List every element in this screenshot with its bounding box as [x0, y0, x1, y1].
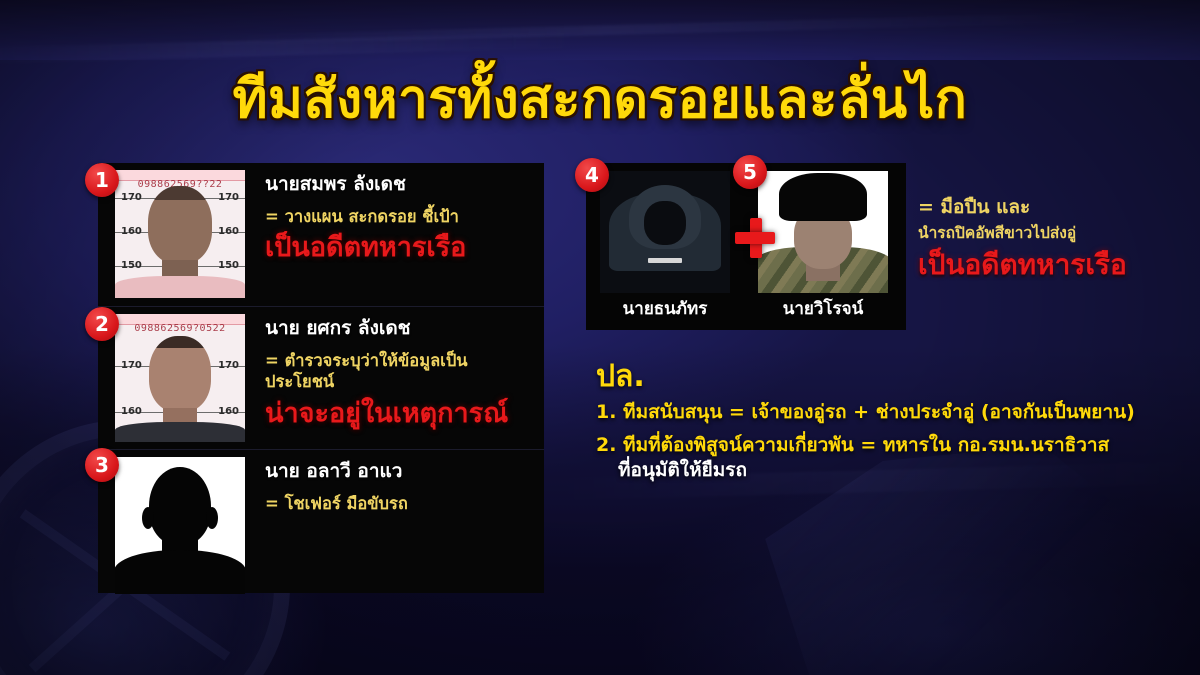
- suspects-panel-left: 098862569??22 170 170 160 160 150 150 นา…: [98, 163, 544, 593]
- mugshot-tick-left-160: 160: [121, 406, 142, 417]
- notes-section: ปล. 1. ทีมสนับสนุน = เจ้าของอู่รถ + ช่าง…: [596, 362, 1171, 483]
- suspect-row-1[interactable]: 098862569??22 170 170 160 160 150 150 นา…: [98, 163, 544, 305]
- notes-heading: ปล.: [596, 362, 1171, 392]
- right-description-line2: นำรถปิคอัพสีขาวไปส่งอู่: [918, 223, 1190, 243]
- masked-face: [644, 201, 686, 245]
- face-shape: [149, 336, 211, 412]
- right-emphasis: เป็นอดีตทหารเรือ: [918, 249, 1190, 280]
- note-item-2-text: 2. ทีมที่ต้องพิสูจน์ความเกี่ยวพัน = ทหาร…: [596, 434, 1109, 456]
- shirt-shape: [115, 422, 245, 442]
- mugshot-code: 098862569?0522: [123, 323, 237, 334]
- mugshot-tick-left-170: 170: [121, 192, 142, 203]
- mugshot-tick-right-170: 170: [218, 360, 239, 371]
- face-shape: [148, 186, 212, 264]
- mugshot-tick-left-160: 160: [121, 226, 142, 237]
- suspect-caption-5: นายวิโรจน์: [758, 295, 888, 322]
- suspect-info-2: นาย ยศกร ลังเดช = ตำรวจระบุว่าให้ข้อมูลเ…: [245, 307, 544, 448]
- suspect-role: = ตำรวจระบุว่าให้ข้อมูลเป็นประโยชน์: [265, 350, 536, 393]
- badge-number-5: 5: [733, 155, 767, 189]
- suspect-name: นายสมพร ลังเดช: [265, 173, 536, 197]
- suspect-photo-3: [115, 457, 245, 594]
- badge-number-3: 3: [85, 448, 119, 482]
- suspect-photo-4: [600, 171, 730, 293]
- mugshot-tick-right-170: 170: [218, 192, 239, 203]
- suspect-info-3: นาย อลาวี อาแว = โชเฟอร์ มือขับรถ: [245, 450, 544, 593]
- silhouette-ear-left: [142, 507, 154, 529]
- right-description: = มือปืน และ นำรถปิคอัพสีขาวไปส่งอู่ เป็…: [918, 196, 1190, 280]
- shirt-shape: [115, 276, 245, 298]
- cap-shape: [779, 173, 867, 221]
- mugshot-tick-right-150: 150: [218, 260, 239, 271]
- badge-number-1: 1: [85, 163, 119, 197]
- note-item-2-continuation: ที่อนุมัติให้ยืมรถ: [618, 458, 1171, 483]
- suspect-name: นาย อลาวี อาแว: [265, 460, 536, 484]
- suspect-row-2[interactable]: 098862569?0522 170 170 160 160 นาย ยศกร …: [98, 306, 544, 448]
- badge-number-4: 4: [575, 158, 609, 192]
- suspect-emphasis: เป็นอดีตทหารเรือ: [265, 233, 536, 263]
- mugshot-tick-left-150: 150: [121, 260, 142, 271]
- suspect-row-3[interactable]: นาย อลาวี อาแว = โชเฟอร์ มือขับรถ: [98, 449, 544, 593]
- hooded-figure-photo: [600, 171, 730, 293]
- infographic-stage: ทีมสังหารทั้งสะกดรอยและลั่นไก 098862569?…: [0, 0, 1200, 675]
- mugshot-tick-right-160: 160: [218, 226, 239, 237]
- note-item-2: 2. ทีมที่ต้องพิสูจน์ความเกี่ยวพัน = ทหาร…: [596, 433, 1171, 483]
- censor-bar: [648, 258, 682, 263]
- suspect-name: นาย ยศกร ลังเดช: [265, 317, 536, 341]
- suspect-caption-4: นายธนภัทร: [600, 295, 730, 322]
- silhouette-shoulders: [115, 550, 245, 594]
- suspect-photo-2: 098862569?0522 170 170 160 160: [115, 314, 245, 442]
- right-description-line1: = มือปืน และ: [918, 196, 1190, 220]
- mugshot-tick-left-170: 170: [121, 360, 142, 371]
- silhouette-ear-right: [206, 507, 218, 529]
- silhouette-head: [149, 467, 211, 545]
- suspect-info-1: นายสมพร ลังเดช = วางแผน สะกดรอย ชี้เป้า …: [245, 163, 544, 305]
- mugshot-tick-right-160: 160: [218, 406, 239, 417]
- suspect-role: = วางแผน สะกดรอย ชี้เป้า: [265, 206, 536, 227]
- suspect-emphasis: น่าจะอยู่ในเหตุการณ์: [265, 399, 536, 429]
- note-item-1-text: 1. ทีมสนับสนุน = เจ้าของอู่รถ + ช่างประจ…: [596, 401, 1135, 423]
- mugshot-photo: 098862569?0522 170 170 160 160: [115, 314, 245, 442]
- page-title: ทีมสังหารทั้งสะกดรอยและลั่นไก: [0, 72, 1200, 128]
- suspect-photo-1: 098862569??22 170 170 160 160 150 150: [115, 170, 245, 298]
- note-item-1: 1. ทีมสนับสนุน = เจ้าของอู่รถ + ช่างประจ…: [596, 400, 1171, 425]
- mugshot-photo: 098862569??22 170 170 160 160 150 150: [115, 170, 245, 298]
- suspect-role: = โชเฟอร์ มือขับรถ: [265, 493, 536, 514]
- silhouette-photo: [115, 457, 245, 594]
- badge-number-2: 2: [85, 307, 119, 341]
- suspect-photo-5: [758, 171, 888, 293]
- soldier-portrait-photo: [758, 171, 888, 293]
- plus-icon: [735, 218, 775, 258]
